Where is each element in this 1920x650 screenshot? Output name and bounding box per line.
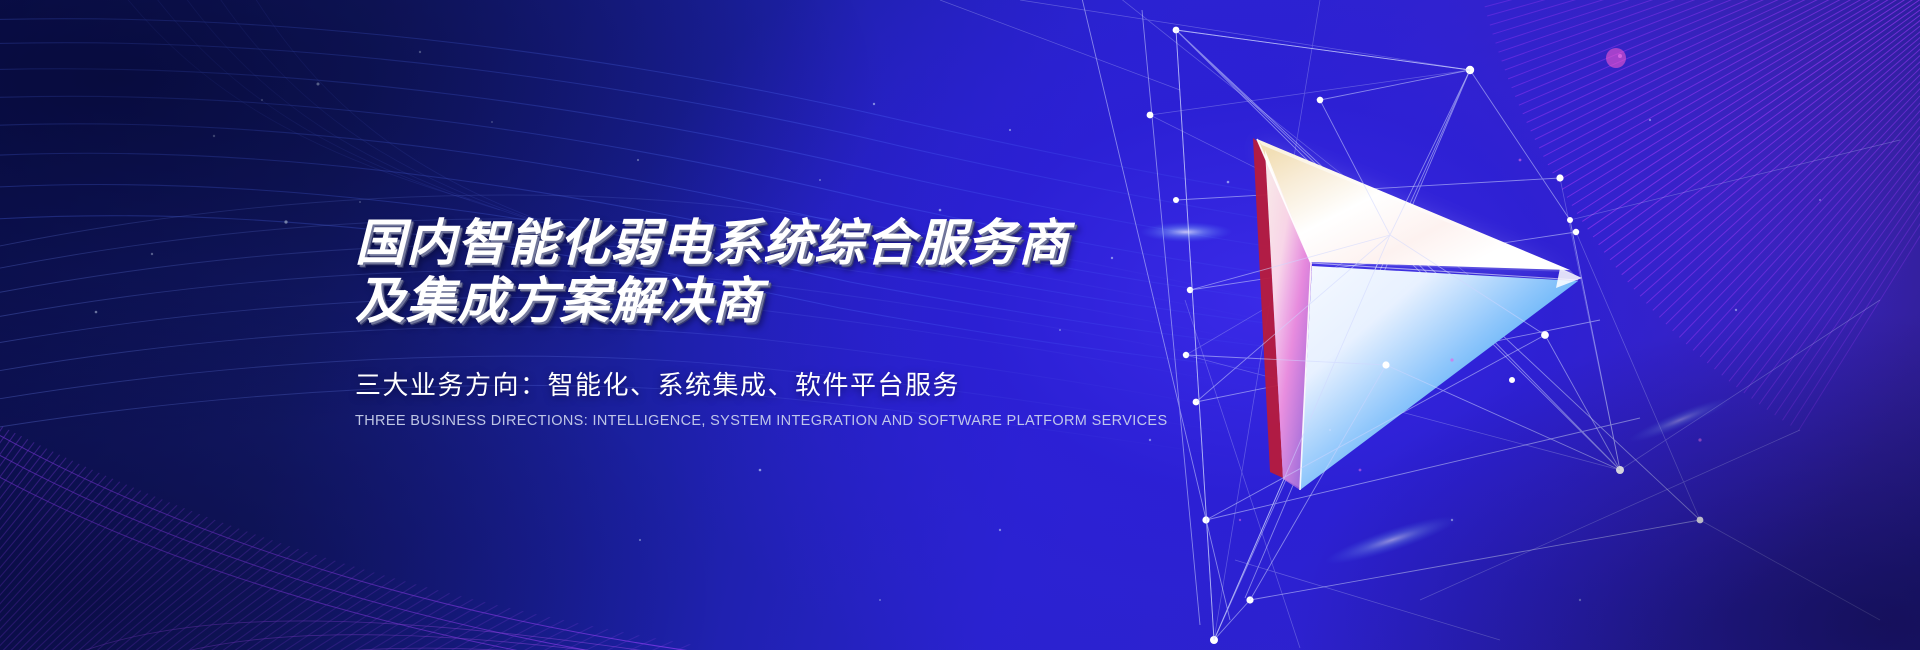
headline-line-1: 国内智能化弱电系统综合服务商 bbox=[355, 215, 1115, 271]
subtitle-chinese: 三大业务方向：智能化、系统集成、软件平台服务 bbox=[355, 365, 1115, 402]
headline-line-2: 及集成方案解决商 bbox=[355, 273, 1115, 329]
hero-banner: 国内智能化弱电系统综合服务商 及集成方案解决商 三大业务方向：智能化、系统集成、… bbox=[0, 0, 1920, 650]
subtitle-english: THREE BUSINESS DIRECTIONS: INTELLIGENCE,… bbox=[355, 413, 1115, 429]
hero-copy: 国内智能化弱电系统综合服务商 及集成方案解决商 三大业务方向：智能化、系统集成、… bbox=[355, 215, 1115, 429]
